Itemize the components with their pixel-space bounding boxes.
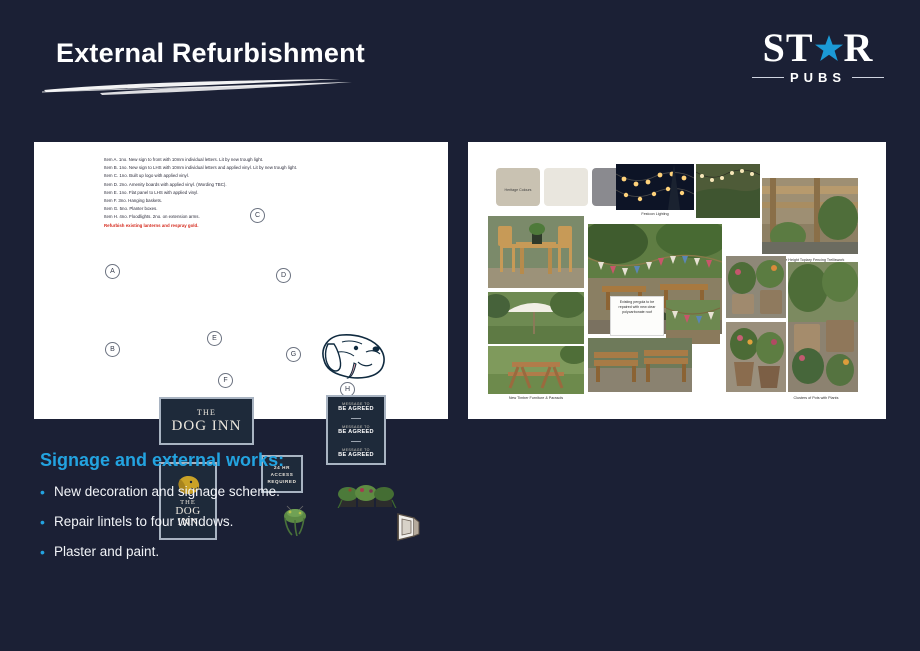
list-item: • Repair lintels to four windows. bbox=[40, 514, 500, 530]
photo-picnic-bench bbox=[488, 346, 584, 394]
star-icon bbox=[814, 28, 844, 68]
list-item-label: Repair lintels to four windows. bbox=[54, 514, 233, 530]
logo-word-left: ST bbox=[763, 28, 814, 68]
amenity-message-1: MESSAGE TO BE AGREED bbox=[338, 402, 374, 412]
sign-d-amenity-board: MESSAGE TO BE AGREED MESSAGE TO BE AGREE… bbox=[326, 395, 386, 465]
logo-rule-right bbox=[852, 77, 884, 78]
logo-rule-left bbox=[752, 77, 784, 78]
amenity-message-big: BE AGREED bbox=[338, 452, 374, 458]
spec-list: Item A. 1no. New sign to front with 10mm… bbox=[104, 156, 364, 230]
list-item-label: Plaster and paint. bbox=[54, 544, 159, 560]
star-pubs-logo: ST R PUBS bbox=[752, 28, 884, 90]
list-item: • Plaster and paint. bbox=[40, 544, 500, 560]
logo-subtitle: PUBS bbox=[790, 70, 846, 85]
amenity-message-big: BE AGREED bbox=[338, 406, 374, 412]
sign-a-the: THE bbox=[197, 408, 216, 417]
photo-benches-row bbox=[588, 338, 692, 392]
list-item: • New decoration and signage scheme. bbox=[40, 484, 500, 500]
bullet-list: • New decoration and signage scheme. • R… bbox=[40, 484, 500, 574]
divider bbox=[351, 418, 361, 419]
mood-board: Heritage Colours bbox=[476, 150, 880, 413]
slide-root: External Refurbishment ST R PUBS Item A.… bbox=[0, 0, 920, 651]
paint-swatch-1: Heritage Colours bbox=[496, 168, 540, 206]
amenity-message-3: MESSAGE TO BE AGREED bbox=[338, 448, 374, 458]
photo-festoon-night bbox=[616, 164, 694, 210]
amenity-message-2: MESSAGE TO BE AGREED bbox=[338, 425, 374, 435]
pergola-note: Existing pergola to be repaired with new… bbox=[610, 296, 664, 336]
caption-pots: Clusters of Pots with Plants bbox=[764, 396, 868, 400]
title-underline-decoration bbox=[40, 76, 360, 98]
amenity-message-big: BE AGREED bbox=[338, 429, 374, 435]
sign-a-front: THE DOG INN bbox=[159, 397, 254, 445]
photo-parasol-garden bbox=[488, 292, 584, 344]
spec-line: Item G. 5no. Planter boxes. bbox=[104, 205, 364, 213]
page-title: External Refurbishment bbox=[56, 38, 365, 69]
spec-line: Item D. 2no. Amenity boards with applied… bbox=[104, 181, 364, 189]
signage-schedule-panel: Item A. 1no. New sign to front with 10mm… bbox=[34, 142, 448, 419]
spec-line: Item B. 1no. New sign to LHS with 10mm i… bbox=[104, 164, 364, 172]
paint-swatch-2 bbox=[544, 168, 588, 206]
marker-g: G bbox=[286, 347, 301, 362]
photo-trellis-plants bbox=[788, 262, 858, 392]
divider bbox=[351, 441, 361, 442]
marker-c: C bbox=[250, 208, 265, 223]
list-item-label: New decoration and signage scheme. bbox=[54, 484, 280, 500]
sign-a-name: DOG INN bbox=[172, 418, 242, 435]
spec-line: Item H. 4no. Floodlights. 2no. on extens… bbox=[104, 213, 364, 221]
photo-timber-table-chairs bbox=[488, 216, 584, 288]
photo-wall-planters bbox=[726, 256, 786, 318]
logo-word-right: R bbox=[844, 28, 874, 68]
bullet-icon: • bbox=[40, 544, 54, 560]
dog-head-logo-icon bbox=[312, 330, 390, 382]
marker-a: A bbox=[105, 264, 120, 279]
swatch-label: Heritage Colours bbox=[496, 188, 540, 193]
spec-line: Item E. 1no. Flat panel to LHS with appl… bbox=[104, 189, 364, 197]
spec-line: Item F. 3no. Hanging baskets. bbox=[104, 197, 364, 205]
caption-furniture: New Timber Furniture & Parasols bbox=[484, 396, 588, 400]
bullet-icon: • bbox=[40, 484, 54, 500]
marker-f: F bbox=[218, 373, 233, 388]
mood-board-panel: Heritage Colours bbox=[468, 142, 886, 419]
photo-festoon-day bbox=[696, 164, 760, 218]
marker-d: D bbox=[276, 268, 291, 283]
photo-pots-with-plants bbox=[726, 322, 786, 392]
marker-e: E bbox=[207, 331, 222, 346]
section-heading: Signage and external works: bbox=[40, 450, 284, 471]
caption-festoon: Festoon Lighting bbox=[616, 212, 694, 216]
bullet-icon: • bbox=[40, 514, 54, 530]
sign-e-line2: ACCESS bbox=[271, 471, 294, 478]
photo-trellis-fence bbox=[762, 178, 858, 254]
spec-note: Refurbish existing lanterns and respray … bbox=[104, 222, 364, 230]
spec-line: Item C. 1no. Built up logo with applied … bbox=[104, 172, 364, 180]
spec-line: Item A. 1no. New sign to front with 10mm… bbox=[104, 156, 364, 164]
marker-b: B bbox=[105, 342, 120, 357]
